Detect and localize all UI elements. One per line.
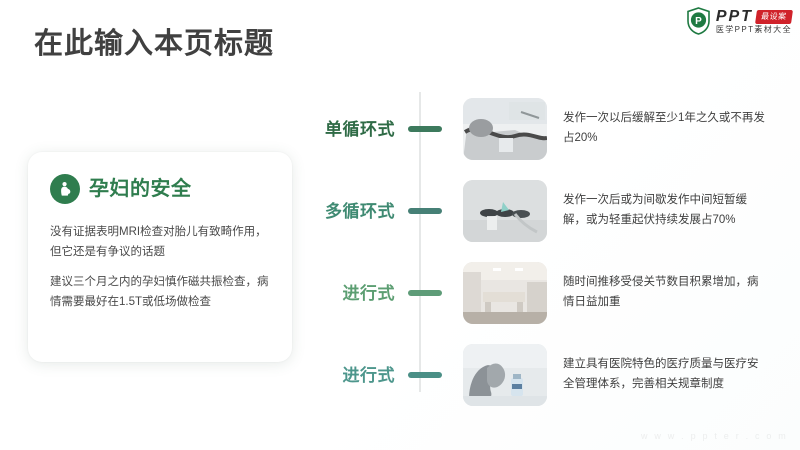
info-card: 孕妇的安全 没有证据表明MRI检查对胎儿有致畸作用，但它还是有争议的话题 建议三… [28,152,292,362]
logo-badge: 最设案 [755,10,792,24]
timeline-row-label: 进行式 [300,285,395,302]
clinic-room-photo[interactable] [463,262,547,324]
timeline-row-label: 多循环式 [300,203,395,220]
timeline-row[interactable]: 多循环式 发作一次后或为间歇发作中间短暂缓解，或为轻重起伏持续发展占70% [300,170,800,252]
info-card-paragraph: 建议三个月之内的孕妇慎作磁共振检查，病情需要最好在1.5T或低场做检查 [50,272,270,312]
timeline-row-dash [408,290,442,296]
timeline-row-text: 随时间推移受侵关节数目积累增加，病情日益加重 [563,273,768,313]
brand-logo: P PPT 最设案 医学PPT素材大全 [686,6,792,36]
logo-brand-text: PPT [716,9,753,25]
timeline-row-text: 发作一次以后缓解至少1年之久或不再发占20% [563,109,768,149]
dental-chair-photo[interactable] [463,98,547,160]
info-card-header: 孕妇的安全 [50,174,270,204]
timeline-row-text: 发作一次后或为间歇发作中间短暂缓解，或为轻重起伏持续发展占70% [563,191,768,231]
watermark: w w w . p p t e r . c o m [641,431,788,441]
timeline-row[interactable]: 单循环式 发作一次以后缓解至少1年之久或不再发占20% [300,88,800,170]
logo-subtitle: 医学PPT素材大全 [716,26,792,34]
timeline-row-dash [408,208,442,214]
timeline-row-dash [408,126,442,132]
timeline-row[interactable]: 进行式 建立具有医院特色的医疗质量与医疗安全管理体系，完善相关规章制度 [300,334,800,416]
page-title: 在此输入本页标题 [34,20,274,62]
svg-text:P: P [695,16,702,27]
gloved-hand-vial-photo[interactable] [463,344,547,406]
timeline-row-text: 建立具有医院特色的医疗质量与医疗安全管理体系，完善相关规章制度 [563,355,768,395]
timeline-row-dash [408,372,442,378]
slide-canvas: 在此输入本页标题 P PPT 最设案 医学PPT素材大全 [0,0,800,450]
timeline-row-label: 单循环式 [300,121,395,138]
timeline-row-label: 进行式 [300,367,395,384]
timeline-rows: 单循环式 发作一次以后缓解至少1年之久或不再发占20% 多循环式 [300,88,800,416]
logo-text-block: PPT 最设案 医学PPT素材大全 [716,9,792,34]
info-card-title: 孕妇的安全 [89,179,192,199]
timeline-row[interactable]: 进行式 随时间推移受侵关节数目积累增加，病情日益加重 [300,252,800,334]
info-card-paragraph: 没有证据表明MRI检查对胎儿有致畸作用，但它还是有争议的话题 [50,222,270,262]
shield-icon: P [686,7,711,35]
lab-glassware-photo[interactable] [463,180,547,242]
logo-top-row: PPT 最设案 [716,9,792,25]
pregnant-woman-icon [50,174,80,204]
